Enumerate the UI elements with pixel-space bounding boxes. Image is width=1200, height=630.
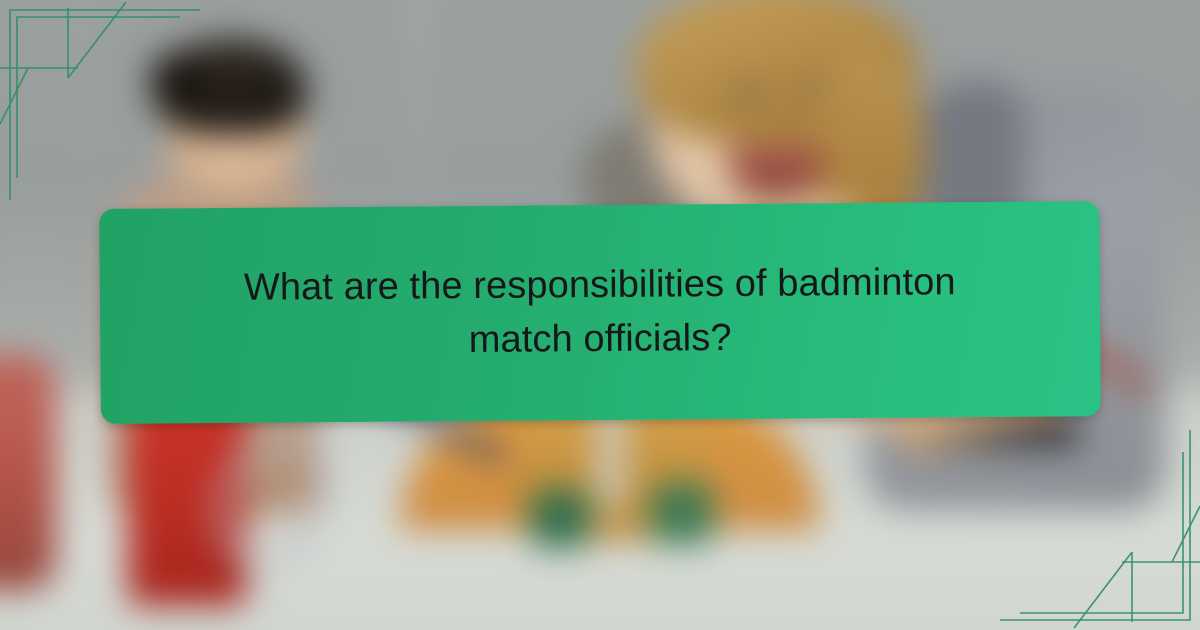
photo-wall-seam-secondary bbox=[80, 0, 85, 190]
photo-girl-right-mouth bbox=[730, 146, 822, 198]
photo-girl-right-eye-left bbox=[730, 80, 764, 104]
question-card: What are the responsibilities of badmint… bbox=[99, 201, 1101, 424]
photo-child-far-left-red-top bbox=[0, 355, 56, 590]
screenshot-canvas: What are the responsibilities of badmint… bbox=[0, 0, 1200, 630]
question-text: What are the responsibilities of badmint… bbox=[220, 256, 981, 370]
photo-child-left-hair-bun bbox=[150, 52, 206, 112]
photo-girl-right-eye-right bbox=[798, 78, 828, 100]
photo-child-center-shoe-right bbox=[650, 482, 714, 544]
photo-child-center-shoe-left bbox=[530, 488, 590, 548]
